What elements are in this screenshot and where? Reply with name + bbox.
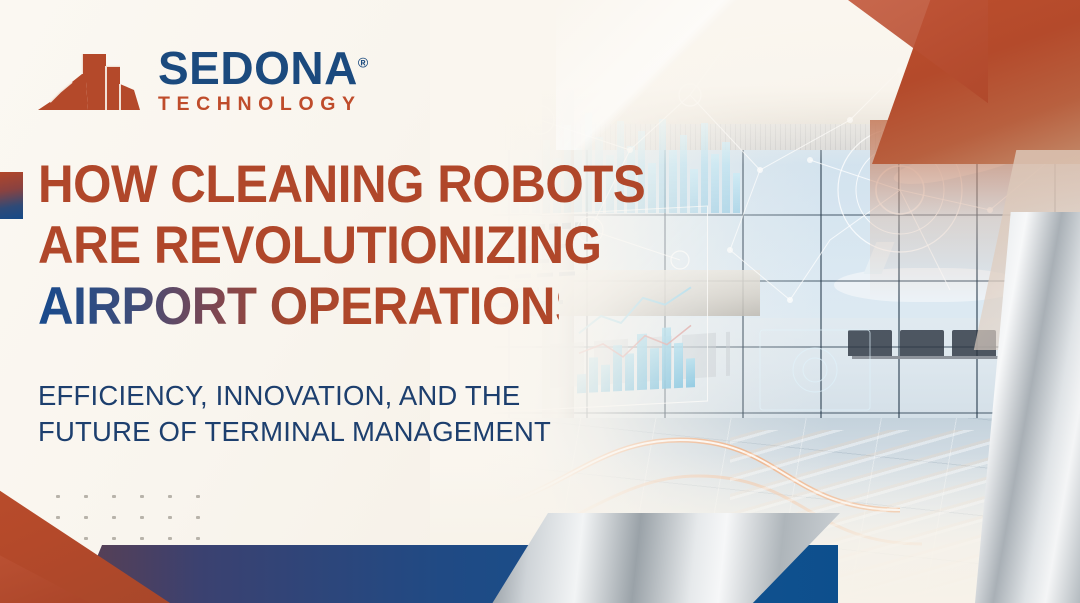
- headline-line-1: HOW CLEANING ROBOTS: [38, 160, 559, 211]
- ceiling-highlight-diagonal: [556, 0, 756, 150]
- headline-block: HOW CLEANING ROBOTS ARE REVOLUTIONIZING …: [38, 160, 598, 333]
- registered-trademark-icon: ®: [358, 55, 369, 71]
- headline-line-3: AIRPORT OPERATIONS: [38, 282, 559, 333]
- brand-logo[interactable]: SEDONA® TECHNOLOGY: [36, 44, 369, 116]
- logo-wordmark: SEDONA® TECHNOLOGY: [158, 46, 369, 116]
- marketing-banner: SEDONA® TECHNOLOGY HOW CLEANING ROBOTS A…: [0, 0, 1080, 603]
- subtitle-block: EFFICIENCY, INNOVATION, AND THE FUTURE O…: [38, 378, 578, 450]
- accent-square: [0, 172, 23, 219]
- logo-name-text: SEDONA: [158, 42, 358, 94]
- logo-name: SEDONA®: [158, 46, 369, 90]
- subtitle-line-2: FUTURE OF TERMINAL MANAGEMENT: [38, 414, 578, 450]
- logo-tagline: TECHNOLOGY: [158, 93, 369, 116]
- subtitle-line-1: EFFICIENCY, INNOVATION, AND THE: [38, 378, 578, 414]
- headline-line-2: ARE REVOLUTIONIZING: [38, 221, 559, 272]
- sedona-mesa-rock-logomark: [36, 44, 144, 116]
